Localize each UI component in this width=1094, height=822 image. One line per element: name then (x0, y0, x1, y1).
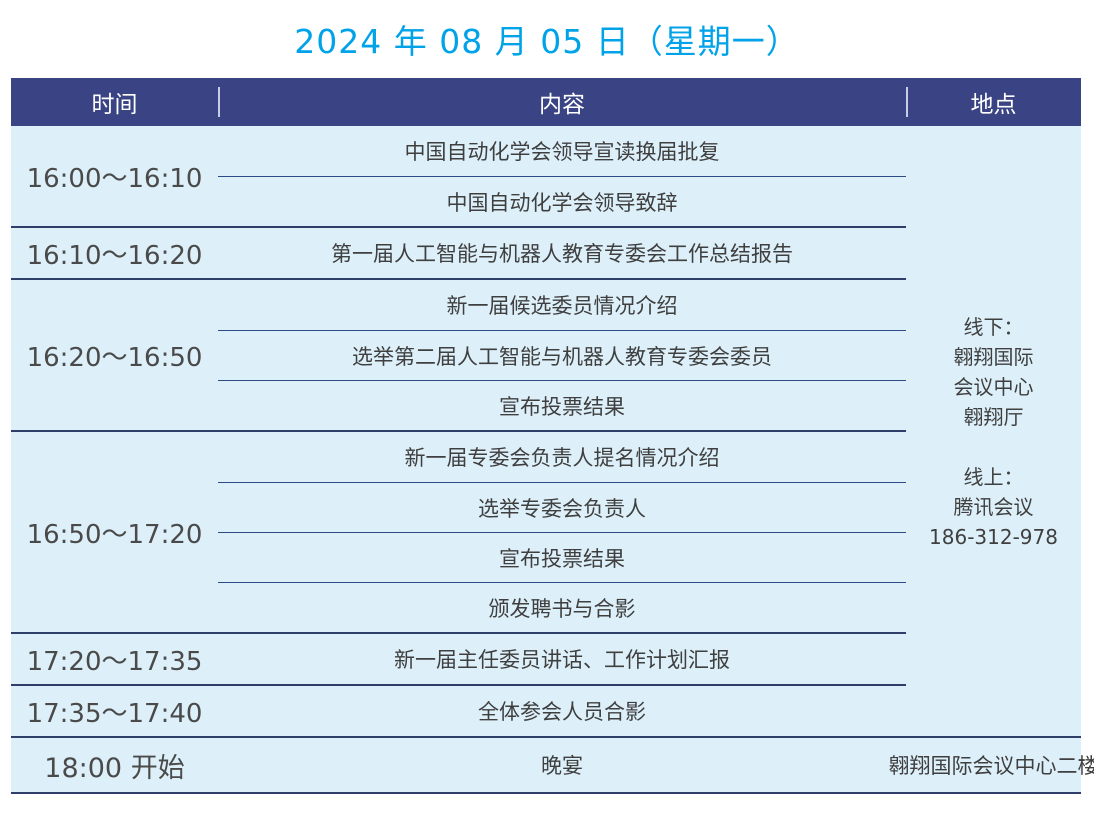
agenda-item: 中国自动化学会领导宣读换届批复 (218, 126, 906, 176)
column-header-content: 内容 (218, 78, 906, 126)
place-cell: 线下： 翱翔国际 会议中心 翱翔厅 线上： 腾讯会议 186-312-978 (906, 126, 1081, 736)
agenda-item: 选举专委会负责人 (218, 482, 906, 532)
final-row-place: 翱翔国际会议中心二楼 (906, 738, 1081, 792)
agenda-item: 新一届专委会负责人提名情况介绍 (218, 432, 906, 482)
column-header-place-label: 地点 (971, 85, 1017, 119)
final-row-time: 18:00 开始 (11, 738, 218, 792)
header-divider-1 (218, 87, 220, 117)
column-header-place: 地点 (906, 78, 1081, 126)
table-row: 17:35～17:40全体参会人员合影 (11, 684, 906, 736)
agenda-item: 全体参会人员合影 (218, 686, 906, 736)
agenda-item: 中国自动化学会领导致辞 (218, 176, 906, 226)
page-title-bar: 2024 年 08 月 05 日（星期一） (0, 0, 1094, 78)
row-time: 17:20～17:35 (11, 634, 218, 684)
table-body: 16:00～16:10中国自动化学会领导宣读换届批复中国自动化学会领导致辞16:… (11, 126, 1081, 736)
table-row: 16:50～17:20新一届专委会负责人提名情况介绍选举专委会负责人宣布投票结果… (11, 430, 906, 632)
column-header-content-label: 内容 (539, 85, 585, 119)
agenda-item: 宣布投票结果 (218, 532, 906, 582)
agenda-item: 新一届候选委员情况介绍 (218, 280, 906, 330)
table-row: 16:00～16:10中国自动化学会领导宣读换届批复中国自动化学会领导致辞 (11, 126, 906, 226)
schedule-table: 时间 内容 地点 16:00～16:10中国自动化学会领导宣读换届批复中国自动化… (11, 78, 1081, 794)
agenda-item: 第一届人工智能与机器人教育专委会工作总结报告 (218, 228, 906, 278)
agenda-item: 新一届主任委员讲话、工作计划汇报 (218, 634, 906, 684)
schedule-groups: 16:00～16:10中国自动化学会领导宣读换届批复中国自动化学会领导致辞16:… (11, 126, 906, 736)
row-content-list: 第一届人工智能与机器人教育专委会工作总结报告 (218, 228, 906, 278)
final-row-content: 晚宴 (218, 738, 906, 792)
table-row: 16:10～16:20第一届人工智能与机器人教育专委会工作总结报告 (11, 226, 906, 278)
table-header-row: 时间 内容 地点 (11, 78, 1081, 126)
row-content-list: 中国自动化学会领导宣读换届批复中国自动化学会领导致辞 (218, 126, 906, 226)
table-row: 17:20～17:35新一届主任委员讲话、工作计划汇报 (11, 632, 906, 684)
column-header-time-label: 时间 (92, 85, 138, 119)
table-row-final: 18:00 开始 晚宴 翱翔国际会议中心二楼 (11, 736, 1081, 794)
row-time: 16:00～16:10 (11, 126, 218, 226)
row-content-list: 全体参会人员合影 (218, 686, 906, 736)
row-content-list: 新一届专委会负责人提名情况介绍选举专委会负责人宣布投票结果颁发聘书与合影 (218, 432, 906, 632)
row-time: 17:35～17:40 (11, 686, 218, 736)
page-title: 2024 年 08 月 05 日（星期一） (294, 15, 799, 63)
row-content-list: 新一届候选委员情况介绍选举第二届人工智能与机器人教育专委会委员宣布投票结果 (218, 280, 906, 430)
agenda-item: 选举第二届人工智能与机器人教育专委会委员 (218, 330, 906, 380)
row-time: 16:20～16:50 (11, 280, 218, 430)
row-content-list: 新一届主任委员讲话、工作计划汇报 (218, 634, 906, 684)
row-time: 16:10～16:20 (11, 228, 218, 278)
column-header-time: 时间 (11, 78, 218, 126)
table-row: 16:20～16:50新一届候选委员情况介绍选举第二届人工智能与机器人教育专委会… (11, 278, 906, 430)
row-time: 16:50～17:20 (11, 432, 218, 632)
agenda-item: 颁发聘书与合影 (218, 582, 906, 632)
schedule-page: 2024 年 08 月 05 日（星期一） 时间 内容 地点 16:00～16:… (0, 0, 1094, 822)
agenda-item: 宣布投票结果 (218, 380, 906, 430)
place-text: 线下： 翱翔国际 会议中心 翱翔厅 线上： 腾讯会议 186-312-978 (929, 312, 1058, 552)
header-divider-2 (906, 87, 908, 117)
